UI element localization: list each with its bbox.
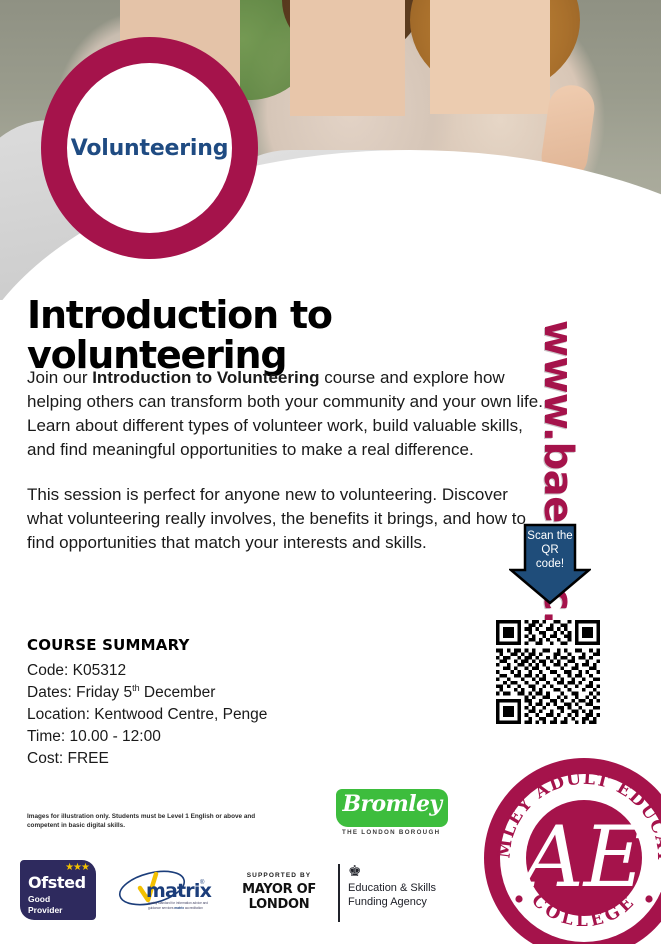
course-description: Join our Introduction to Volunteering co… (27, 366, 547, 555)
esfa-logo: ♚ Education & Skills Funding Agency (338, 864, 460, 922)
summary-row-cost: Cost: FREE (27, 748, 357, 770)
summary-row-time: Time: 10.00 - 12:00 (27, 726, 357, 748)
matrix-strapline-bold: matrix (174, 906, 184, 910)
poster-root: VOLUNTEER VOLUNTEER Volunteering Introdu… (0, 0, 661, 944)
baec-roundel-icon: BROMLEY ADULT EDUCATION COLLEGE AE (484, 758, 661, 944)
location-value: Kentwood Centre, Penge (94, 706, 267, 723)
person-middle-face (290, 0, 405, 116)
bromley-council-logo: Bromley THE LONDON BOROUGH (336, 789, 448, 842)
summary-row-dates: Dates: Friday 5th December (27, 682, 357, 704)
description-paragraph-2: This session is perfect for anyone new t… (27, 483, 547, 555)
matrix-strapline-tail: accreditation (184, 906, 203, 910)
page-title: Introduction to volunteering (27, 296, 597, 376)
person-right-face (430, 0, 550, 114)
bromley-strapline: THE LONDON BOROUGH (342, 829, 440, 836)
dates-label: Dates: (27, 684, 76, 701)
matrix-strapline: quality standard for information advice … (148, 901, 210, 911)
esfa-line1: Education & Skills (348, 882, 460, 896)
dates-value: Friday 5 (76, 684, 132, 701)
dates-ordinal-suffix: th (132, 683, 140, 693)
esfa-line2: Funding Agency (348, 896, 460, 910)
mayor-of-london-logo: SUPPORTED BY MAYOR OF LONDON (219, 872, 339, 912)
svg-text:AE: AE (516, 808, 645, 906)
ofsted-stars-icon: ★★★ (65, 862, 89, 873)
mayor-wordmark: MAYOR OF LONDON (219, 882, 339, 912)
disclaimer-text: Images for illustration only. Students m… (27, 812, 257, 831)
p1-course-name: Introduction to Volunteering (92, 368, 319, 387)
qr-code-image (493, 620, 603, 724)
dates-value-month: December (140, 684, 216, 701)
matrix-logo: matrix ® quality standard for informatio… (112, 866, 210, 918)
accreditation-logos: ★★★ Ofsted Good Provider matrix ® qualit… (0, 858, 470, 938)
time-value: 10.00 - 12:00 (69, 728, 160, 745)
bromley-wordmark: Bromley (336, 791, 448, 817)
volunteering-badge-label: Volunteering (71, 136, 229, 161)
code-value: K05312 (73, 662, 126, 679)
description-paragraph-1: Join our Introduction to Volunteering co… (27, 366, 547, 463)
ofsted-logo: ★★★ Ofsted Good Provider (20, 860, 96, 920)
course-summary-heading: COURSE SUMMARY (27, 636, 357, 654)
mayor-supported-by-label: SUPPORTED BY (219, 872, 339, 879)
ofsted-rating-line2: Provider (28, 905, 90, 916)
time-label: Time: (27, 728, 69, 745)
volunteering-badge: Volunteering (41, 37, 258, 259)
royal-crown-icon: ♚ (348, 864, 460, 879)
ofsted-rating: Good Provider (28, 894, 90, 915)
ofsted-rating-line1: Good (28, 894, 90, 905)
scan-qr-arrow: Scan the QR code! (509, 523, 591, 605)
baec-college-logo: BROMLEY ADULT EDUCATION COLLEGE AE (484, 758, 661, 944)
summary-row-location: Location: Kentwood Centre, Penge (27, 704, 357, 726)
ofsted-wordmark: Ofsted (28, 873, 90, 892)
location-label: Location: (27, 706, 94, 723)
course-summary: COURSE SUMMARY Code: K05312 Dates: Frida… (27, 636, 357, 770)
code-label: Code: (27, 662, 73, 679)
p1-text-before: Join our (27, 368, 92, 387)
cost-label: Cost: (27, 750, 67, 767)
qr-code[interactable] (493, 620, 603, 724)
cost-value: FREE (67, 750, 108, 767)
summary-row-code: Code: K05312 (27, 660, 357, 682)
down-arrow-icon (509, 523, 591, 605)
esfa-wordmark: Education & Skills Funding Agency (348, 882, 460, 910)
matrix-registered-mark: ® (200, 880, 204, 886)
